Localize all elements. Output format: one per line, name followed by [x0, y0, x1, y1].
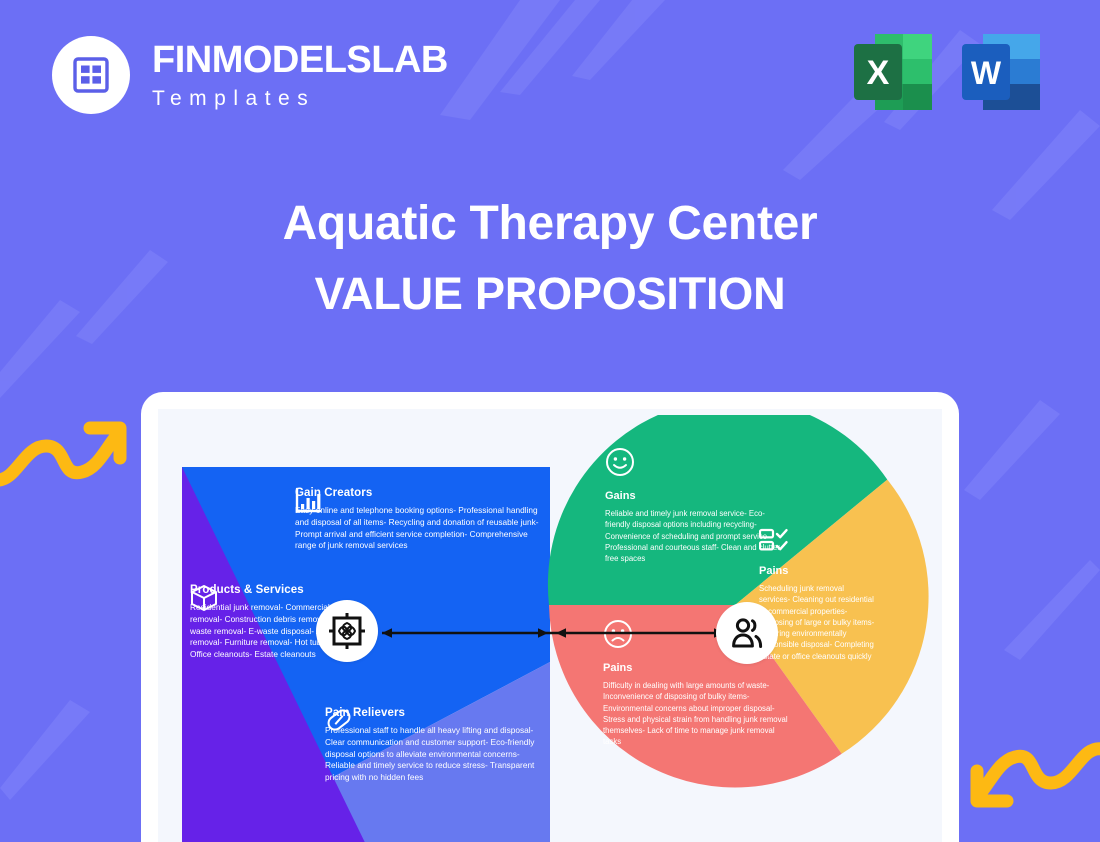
- pie-label-gains: Gains Reliable and timely junk removal s…: [605, 447, 785, 564]
- document-title: VALUE PROPOSITION: [0, 268, 1100, 320]
- squiggle-arrow-down-left-icon: [969, 737, 1100, 832]
- svg-text:W: W: [971, 55, 1002, 91]
- segment-title: Pains: [759, 565, 877, 577]
- segment-title: Gains: [605, 490, 785, 502]
- block-title: Gain Creators: [295, 487, 540, 499]
- brand-tagline: Templates: [152, 88, 448, 109]
- block-title: Pain Relievers: [325, 707, 540, 719]
- segment-body: Reliable and timely junk removal service…: [605, 508, 785, 564]
- users-group-icon: [729, 616, 765, 650]
- segment-title: Pains: [603, 662, 788, 674]
- block-body: Easy online and telephone booking option…: [295, 505, 540, 552]
- customer-profile-center-badge: [716, 602, 778, 664]
- excel-icon[interactable]: X: [852, 32, 934, 112]
- bar-chart-icon: [295, 487, 321, 513]
- title-block: Aquatic Therapy Center VALUE PROPOSITION: [0, 196, 1100, 320]
- segment-body: Difficulty in dealing with large amounts…: [603, 680, 788, 748]
- value-map-center-badge: [316, 600, 378, 662]
- logo-mark: [52, 36, 130, 114]
- grid-logo-icon: [73, 57, 109, 93]
- block-gain-creators: Gain Creators Easy online and telephone …: [295, 487, 540, 552]
- checklist-icon: [759, 528, 789, 552]
- block-pain-relievers: Pain Relievers Professional staff to han…: [325, 707, 540, 784]
- svg-text:X: X: [867, 54, 890, 92]
- business-title: Aquatic Therapy Center: [0, 196, 1100, 252]
- gift-box-icon: [329, 613, 365, 649]
- pill-icon: [325, 707, 353, 733]
- connector-double-arrow: [378, 624, 728, 642]
- word-icon[interactable]: W: [960, 32, 1042, 112]
- smiley-happy-icon: [605, 447, 635, 477]
- laptop-frame: Gain Creators Easy online and telephone …: [141, 392, 959, 842]
- box-package-icon: [190, 584, 218, 612]
- squiggle-arrow-up-right-icon: [0, 398, 129, 493]
- block-body: Professional staff to handle all heavy l…: [325, 725, 540, 784]
- brand-logo: FINMODELSLAB Templates: [52, 36, 448, 114]
- brand-name: FINMODELSLAB: [152, 41, 448, 79]
- office-format-icons: X W: [852, 32, 1042, 112]
